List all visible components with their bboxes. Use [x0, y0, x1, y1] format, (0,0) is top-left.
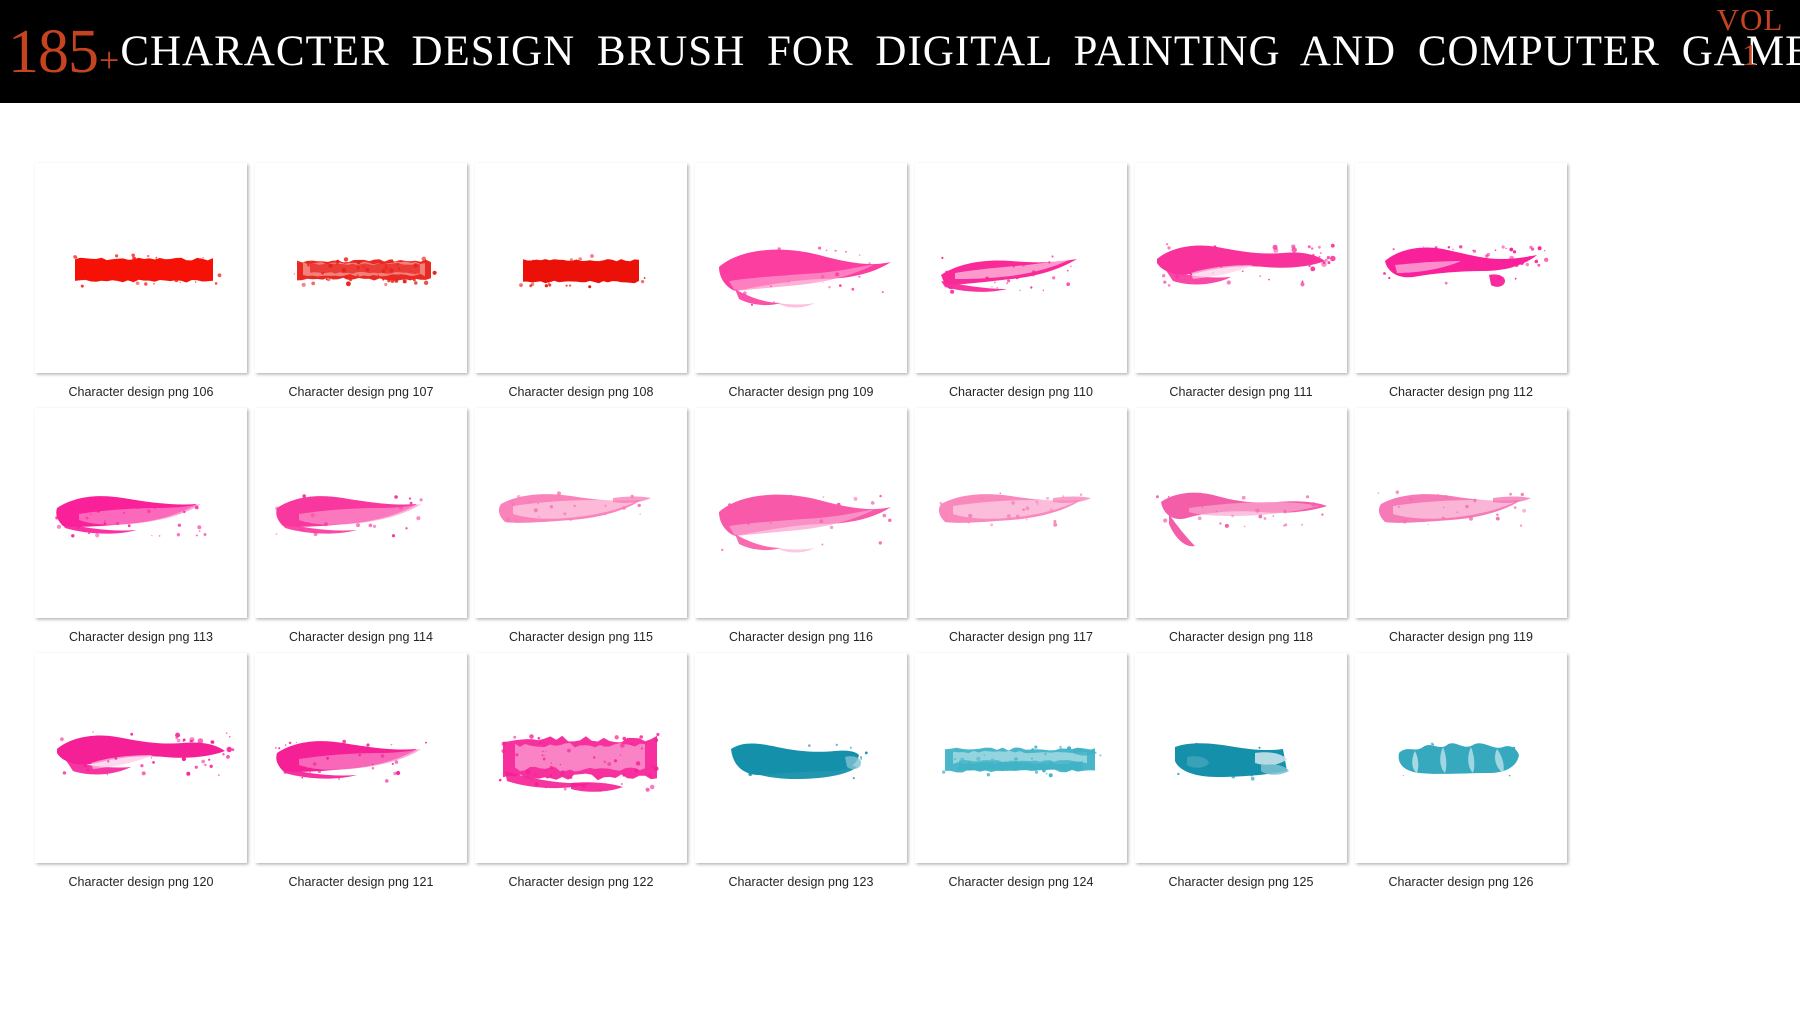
thumbnail-tile[interactable] — [255, 653, 467, 863]
grid-cell: Character design png 112 — [1351, 163, 1571, 408]
thumbnail-tile[interactable] — [915, 408, 1127, 618]
thumbnail-caption: Character design png 123 — [728, 875, 873, 889]
brush-stroke-image — [35, 408, 247, 618]
grid-cell: Character design png 109 — [691, 163, 911, 408]
grid-cell: Character design png 115 — [471, 408, 691, 653]
brush-stroke-image — [1355, 163, 1567, 373]
thumbnail-caption: Character design png 116 — [729, 630, 873, 644]
grid-cell: Character design png 124 — [911, 653, 1131, 898]
brush-stroke-image — [475, 408, 687, 618]
grid-cell: Character design png 119 — [1351, 408, 1571, 653]
thumbnail-tile[interactable] — [35, 163, 247, 373]
brush-stroke-image — [255, 408, 467, 618]
brush-stroke-image — [915, 163, 1127, 373]
thumbnail-caption: Character design png 110 — [949, 385, 1093, 399]
grid-cell: Character design png 120 — [31, 653, 251, 898]
brush-stroke-image — [915, 653, 1127, 863]
header-count: 185+ — [0, 21, 118, 83]
brush-stroke-image — [695, 408, 907, 618]
thumbnail-caption: Character design png 121 — [288, 875, 433, 889]
volume-number: 1 — [1714, 41, 1786, 70]
thumbnail-tile[interactable] — [915, 163, 1127, 373]
grid-cell: Character design png 114 — [251, 408, 471, 653]
brush-stroke-image — [695, 163, 907, 373]
brush-stroke-image — [695, 653, 907, 863]
thumbnail-tile[interactable] — [1135, 163, 1347, 373]
thumbnail-tile[interactable] — [695, 653, 907, 863]
grid-cell: Character design png 106 — [31, 163, 251, 408]
grid-cell: Character design png 126 — [1351, 653, 1571, 898]
thumbnail-tile[interactable] — [475, 653, 687, 863]
thumbnail-caption: Character design png 106 — [68, 385, 213, 399]
grid-cell: Character design png 107 — [251, 163, 471, 408]
thumbnail-tile[interactable] — [1135, 408, 1347, 618]
thumbnail-tile[interactable] — [255, 163, 467, 373]
grid-cell: Character design png 121 — [251, 653, 471, 898]
grid-cell: Character design png 116 — [691, 408, 911, 653]
thumbnail-tile[interactable] — [695, 163, 907, 373]
thumbnail-tile[interactable] — [915, 653, 1127, 863]
thumbnail-tile[interactable] — [475, 163, 687, 373]
thumbnail-tile[interactable] — [1355, 653, 1567, 863]
thumbnail-tile[interactable] — [1135, 653, 1347, 863]
thumbnail-caption: Character design png 122 — [508, 875, 653, 889]
volume-label: VOL — [1714, 6, 1786, 35]
grid-cell: Character design png 122 — [471, 653, 691, 898]
header-count-number: 185 — [8, 21, 98, 83]
header-count-plus: + — [99, 42, 118, 78]
thumbnail-caption: Character design png 107 — [288, 385, 433, 399]
thumbnail-caption: Character design png 118 — [1169, 630, 1313, 644]
volume-badge: VOL 1 — [1714, 6, 1786, 69]
brush-stroke-image — [1355, 653, 1567, 863]
thumbnail-tile[interactable] — [475, 408, 687, 618]
thumbnail-caption: Character design png 120 — [68, 875, 213, 889]
thumbnail-caption: Character design png 125 — [1168, 875, 1313, 889]
brush-stroke-image — [915, 408, 1127, 618]
thumbnail-caption: Character design png 119 — [1389, 630, 1533, 644]
thumbnail-grid: Character design png 106Character design… — [31, 163, 1791, 898]
thumbnail-caption: Character design png 109 — [728, 385, 873, 399]
grid-cell: Character design png 110 — [911, 163, 1131, 408]
thumbnail-tile[interactable] — [1355, 163, 1567, 373]
brush-stroke-image — [1135, 163, 1347, 373]
brush-stroke-image — [475, 653, 687, 863]
brush-stroke-image — [255, 163, 467, 373]
page-header: 185+ CHARACTER DESIGN BRUSH FOR DIGITAL … — [0, 0, 1800, 103]
thumbnail-caption: Character design png 115 — [509, 630, 653, 644]
grid-cell: Character design png 125 — [1131, 653, 1351, 898]
grid-cell: Character design png 118 — [1131, 408, 1351, 653]
thumbnail-tile[interactable] — [1355, 408, 1567, 618]
brush-stroke-image — [1135, 408, 1347, 618]
thumbnail-caption: Character design png 117 — [949, 630, 1093, 644]
thumbnail-tile[interactable] — [695, 408, 907, 618]
grid-cell: Character design png 111 — [1131, 163, 1351, 408]
page-title: CHARACTER DESIGN BRUSH FOR DIGITAL PAINT… — [120, 30, 1800, 73]
thumbnail-caption: Character design png 111 — [1169, 385, 1312, 399]
brush-stroke-image — [35, 163, 247, 373]
brush-stroke-image — [1135, 653, 1347, 863]
thumbnail-caption: Character design png 108 — [508, 385, 653, 399]
thumbnail-tile[interactable] — [35, 653, 247, 863]
thumbnail-caption: Character design png 126 — [1388, 875, 1533, 889]
grid-cell: Character design png 113 — [31, 408, 251, 653]
thumbnail-tile[interactable] — [255, 408, 467, 618]
brush-stroke-image — [475, 163, 687, 373]
grid-cell: Character design png 108 — [471, 163, 691, 408]
thumbnail-caption: Character design png 124 — [948, 875, 1093, 889]
brush-stroke-image — [255, 653, 467, 863]
thumbnail-caption: Character design png 112 — [1389, 385, 1533, 399]
brush-stroke-image — [35, 653, 247, 863]
thumbnail-tile[interactable] — [35, 408, 247, 618]
grid-cell: Character design png 123 — [691, 653, 911, 898]
brush-stroke-image — [1355, 408, 1567, 618]
thumbnail-caption: Character design png 113 — [69, 630, 213, 644]
thumbnail-caption: Character design png 114 — [289, 630, 433, 644]
grid-cell: Character design png 117 — [911, 408, 1131, 653]
